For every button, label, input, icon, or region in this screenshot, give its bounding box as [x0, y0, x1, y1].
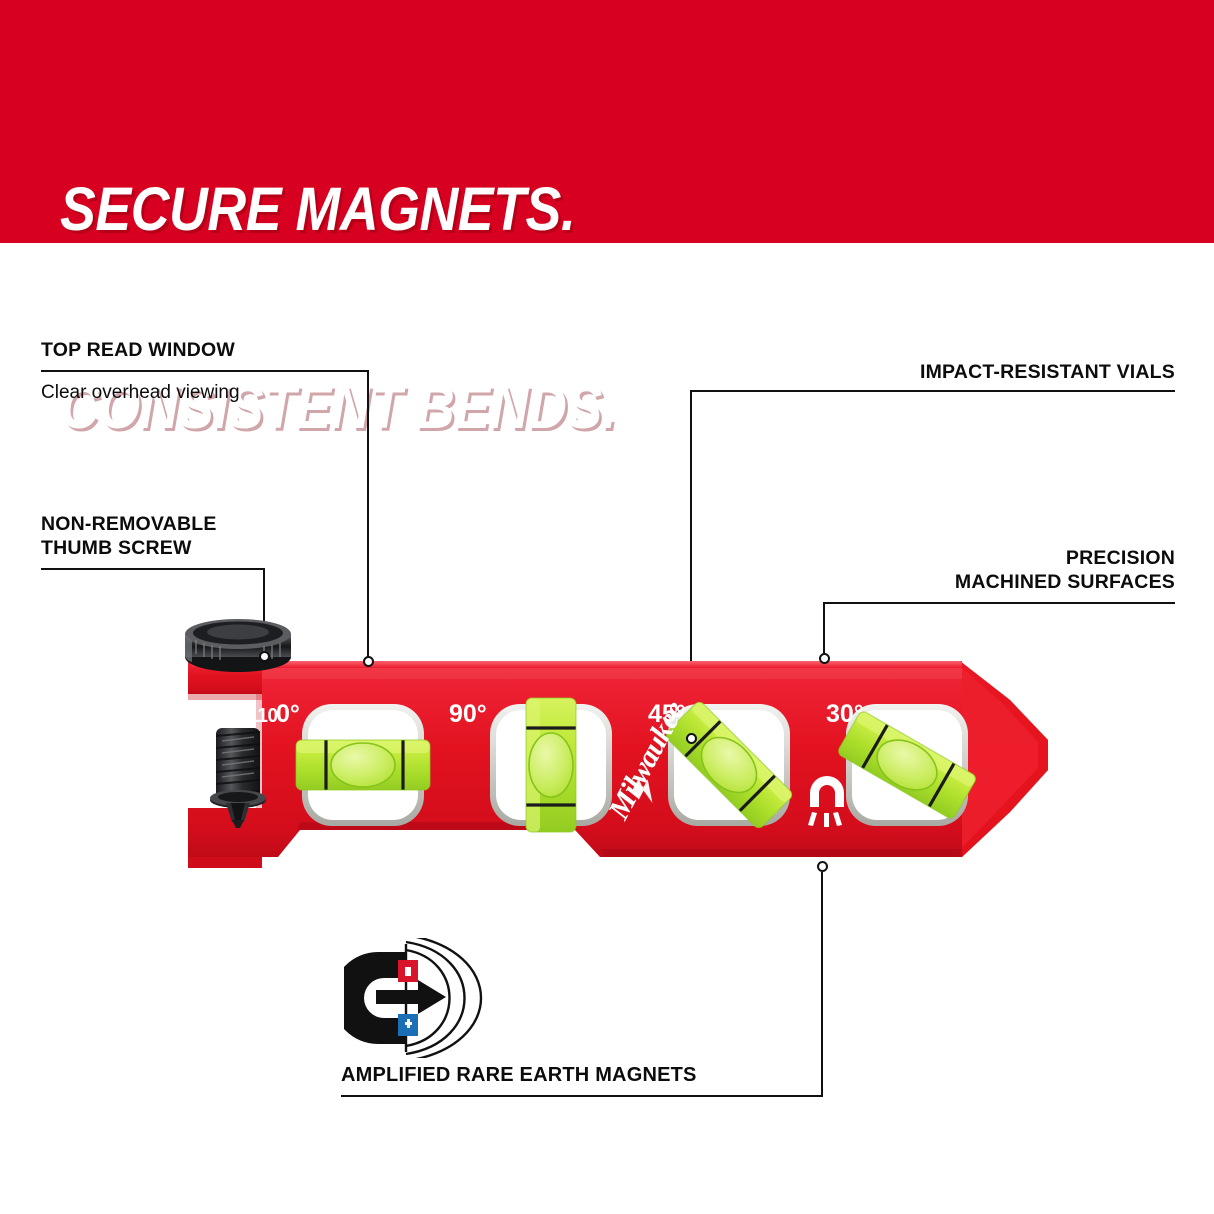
- callout-amplified-magnets-rule: [341, 1095, 823, 1097]
- vial-window-30deg: [836, 704, 977, 826]
- callout-precision-rule: [823, 602, 1175, 604]
- callout-amplified-magnets-title: AMPLIFIED RARE EARTH MAGNETS: [341, 1063, 811, 1087]
- vial-label-30: 30°: [826, 700, 864, 728]
- leader-dot-precision-machined-surfaces: [819, 653, 830, 664]
- magnet-direction-arrow: [376, 980, 446, 1014]
- thumb-screw: [185, 619, 291, 828]
- clamp-lower-jaw: [188, 808, 262, 868]
- leader-dot-impact-resistant-vials: [686, 733, 697, 744]
- vial-label-45: 45°: [648, 700, 686, 728]
- header-banner: SECURE MAGNETS. CONSISTENT BENDS.: [0, 0, 1214, 243]
- vial-30deg: [836, 710, 977, 820]
- callout-top-read-window-rule: [41, 370, 369, 372]
- leader-impact-resistant-vials: [690, 390, 692, 738]
- leader-dot-top-read-window: [363, 656, 374, 667]
- leader-dot-amplified-magnets: [817, 861, 828, 872]
- vial-label-0: 0°: [276, 700, 300, 728]
- callout-amplified-magnets: AMPLIFIED RARE EARTH MAGNETS: [341, 1063, 811, 1087]
- callout-impact-resistant-vials: IMPACT-RESISTANT VIALS: [780, 360, 1175, 384]
- vial-window-90deg: [490, 698, 612, 832]
- callout-precision-title-line2: MACHINED SURFACES: [775, 570, 1175, 594]
- callout-top-read-window: TOP READ WINDOW: [41, 338, 371, 362]
- leader-thumb-screw: [263, 568, 265, 658]
- product-markings: 48-22-5110 0° 90° 45° 30°: [186, 700, 864, 728]
- milwaukee-logo: Milwaukee: [602, 696, 699, 830]
- callout-precision-machined-surfaces: PRECISION MACHINED SURFACES: [775, 546, 1175, 594]
- callout-top-read-window-sub: Clear overhead viewing: [41, 380, 371, 406]
- banner-headline-line1: SECURE MAGNETS.: [60, 176, 616, 242]
- callout-thumb-screw-title-line1: NON-REMOVABLE: [41, 512, 381, 536]
- body-magnet-icon: [808, 776, 844, 827]
- vial-45deg: [664, 700, 794, 830]
- vial-label-90: 90°: [449, 700, 487, 728]
- leader-amplified-magnets: [821, 872, 823, 1095]
- vial-90deg: [526, 698, 576, 832]
- banner-headline: SECURE MAGNETS. CONSISTENT BENDS.: [60, 44, 616, 572]
- callout-impact-resistant-vials-title: IMPACT-RESISTANT VIALS: [780, 360, 1175, 384]
- vial-0deg: [296, 740, 430, 790]
- screw-shaft: [210, 728, 266, 828]
- magnet-pole-positive: [398, 1014, 418, 1036]
- callout-precision-title-line1: PRECISION: [775, 546, 1175, 570]
- leader-dot-thumb-screw: [259, 651, 270, 662]
- vial-window-0deg: [296, 704, 430, 826]
- vial-window-45deg: [664, 700, 794, 830]
- callout-thumb-screw-title-line2: THUMB SCREW: [41, 536, 381, 560]
- callout-top-read-window-subtitle: Clear overhead viewing: [41, 380, 371, 406]
- leader-precision-machined-surfaces: [823, 602, 825, 658]
- magnet-pole-negative: [398, 960, 418, 982]
- level-body: [188, 661, 1048, 857]
- svg-text:Milwaukee: Milwaukee: [602, 696, 692, 826]
- infographic-page: SECURE MAGNETS. CONSISTENT BENDS. TOP RE…: [0, 0, 1214, 1214]
- callout-thumb-screw-rule: [41, 568, 265, 570]
- callout-top-read-window-title: TOP READ WINDOW: [41, 338, 371, 362]
- magnet-diagram: [344, 938, 554, 1058]
- callout-thumb-screw: NON-REMOVABLE THUMB SCREW: [41, 512, 381, 560]
- model-number-text: 48-22-5110: [186, 705, 278, 728]
- screw-knob: [185, 619, 291, 672]
- callout-impact-resistant-vials-rule: [690, 390, 1175, 392]
